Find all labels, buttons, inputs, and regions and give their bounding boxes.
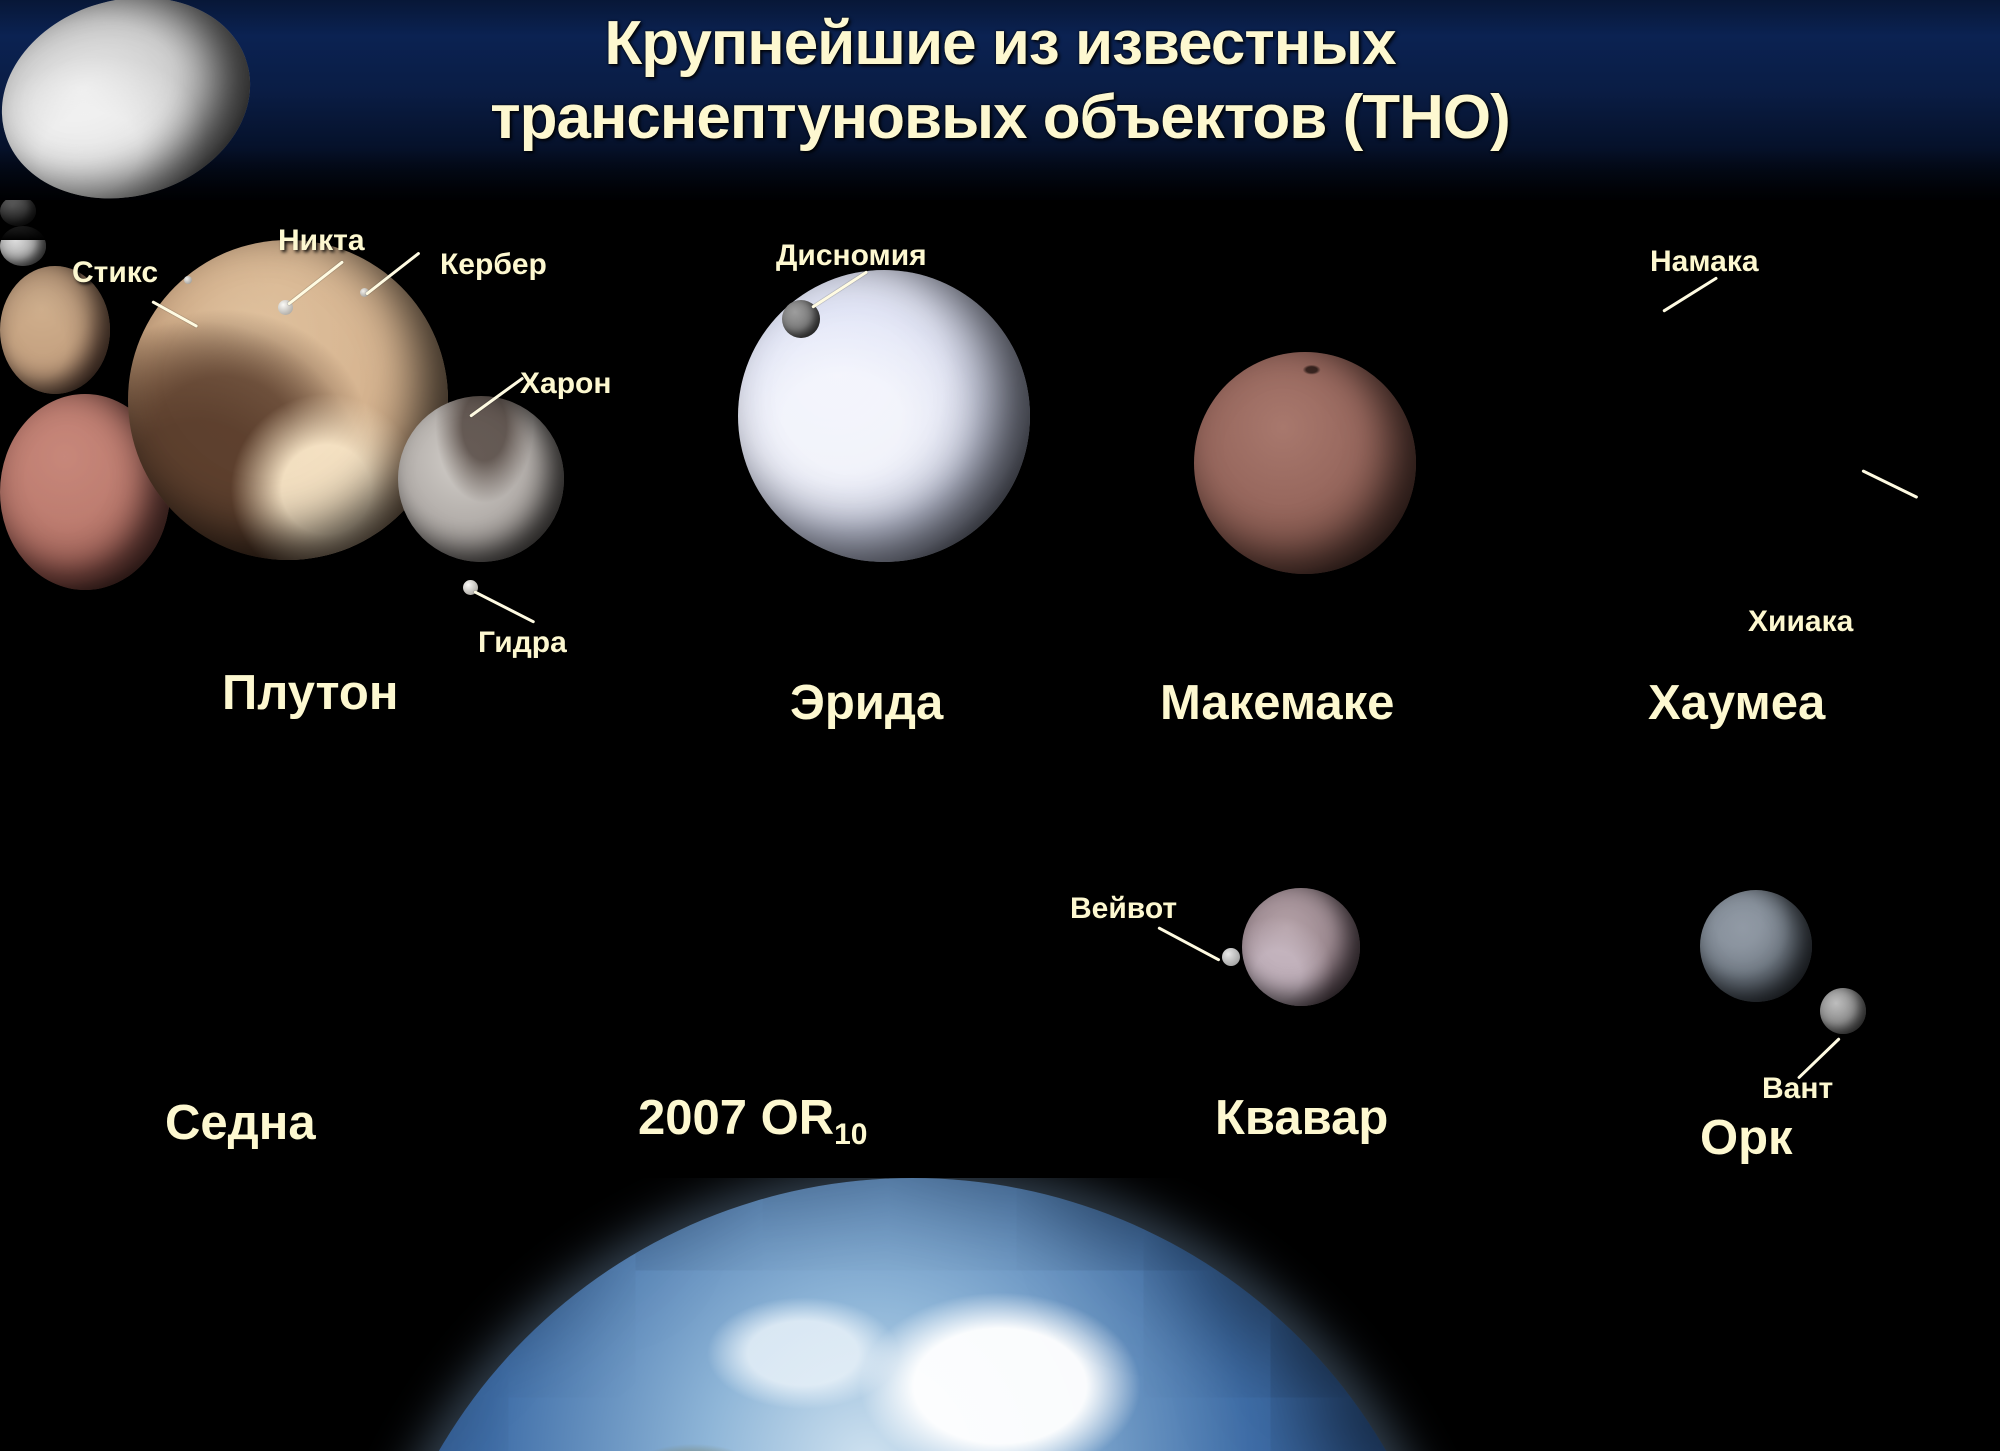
object-label-makemake: Макемаке (1160, 675, 1394, 731)
charon-moon-body (398, 396, 564, 562)
hiiaka-leader-line (1861, 469, 1918, 499)
or10-subscript: 10 (834, 1118, 867, 1151)
page-title-line-1: Крупнейшие из известных (0, 8, 2000, 79)
orcus-body (1700, 890, 1812, 1002)
object-label-quaoar: Квавар (1215, 1090, 1388, 1146)
hydra-leader-line (473, 590, 535, 624)
moon-label-namaka: Намака (1650, 245, 1759, 279)
makemake-body (1194, 352, 1416, 574)
object-label-eris: Эрида (790, 675, 943, 731)
quaoar-body (1242, 888, 1360, 1006)
moon-label-charon: Харон (520, 367, 611, 401)
object-label-or10: 2007 OR10 (638, 1090, 868, 1146)
pluto-body (128, 240, 448, 560)
moon-label-styx: Стикс (72, 256, 158, 290)
moon-label-dysnomia: Дисномия (776, 239, 927, 273)
moon-label-kerberos: Кербер (440, 248, 547, 282)
vanth-moon-body (1820, 988, 1866, 1034)
object-label-sedna: Седна (165, 1095, 316, 1151)
moon-label-vanth: Вант (1762, 1072, 1833, 1106)
earth-body (365, 1178, 1460, 1451)
moon-label-hydra: Гидра (478, 626, 567, 660)
moon-label-hiiaka: Хииака (1748, 605, 1853, 639)
object-label-pluto: Плутон (222, 665, 398, 721)
weywot-moon-body (1222, 948, 1240, 966)
or10-designation: 2007 OR (638, 1091, 834, 1145)
earth-globe (365, 1178, 1460, 1451)
page-title-line-2: транснептуновых объектов (ТНО) (0, 82, 2000, 153)
moon-label-weywot: Вейвот (1070, 892, 1177, 926)
moon-label-nix: Никта (278, 224, 365, 258)
object-label-orcus: Орк (1700, 1110, 1793, 1166)
infographic-canvas: Крупнейшие из известных транснептуновых … (0, 0, 2000, 1451)
styx-moon-body (184, 276, 192, 284)
namaka-leader-line (1662, 276, 1718, 312)
object-label-haumea: Хаумеа (1648, 675, 1825, 731)
weywot-leader-line (1157, 926, 1220, 962)
